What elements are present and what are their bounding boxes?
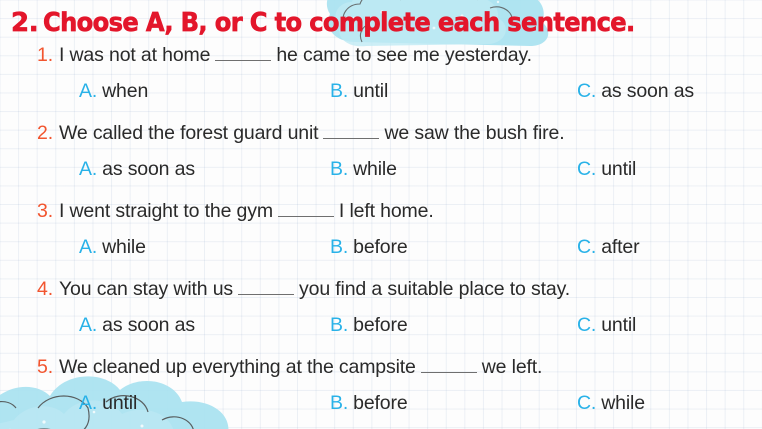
option-letter: A. <box>79 236 97 259</box>
option-value: as soon as <box>102 314 195 337</box>
question-text-after: he came to see me yesterday. <box>276 44 532 67</box>
option-row: A. as soon as B. while C. until <box>0 158 762 186</box>
question-item: 5. We cleaned up everything at the camps… <box>0 356 762 429</box>
option-value: when <box>102 80 148 103</box>
question-item: 1. I was not at home he came to see me y… <box>0 44 762 122</box>
question-text-before: I was not at home <box>59 44 210 67</box>
option-a[interactable]: A. when <box>79 80 148 103</box>
option-letter: B. <box>330 236 348 259</box>
option-letter: B. <box>330 158 348 181</box>
worksheet-slide: 2. Choose A, B, or C to complete each se… <box>0 0 762 429</box>
option-letter: C. <box>577 158 596 181</box>
exercise-title: 2. Choose A, B, or C to complete each se… <box>11 8 679 38</box>
option-value: while <box>353 158 397 181</box>
option-a[interactable]: A. until <box>79 392 137 415</box>
answer-blank[interactable] <box>421 359 477 373</box>
question-sentence: 2. We called the forest guard unit we sa… <box>37 122 564 145</box>
question-number: 4. <box>37 278 53 301</box>
option-value: until <box>601 314 636 337</box>
option-row: A. as soon as B. before C. until <box>0 314 762 342</box>
option-row: A. until B. before C. while <box>0 392 762 420</box>
question-text-after: we saw the bush fire. <box>384 122 564 145</box>
option-letter: C. <box>577 236 596 259</box>
question-sentence: 3. I went straight to the gym I left hom… <box>37 200 434 223</box>
option-value: while <box>102 236 146 259</box>
exercise-title-text: Choose A, B, or C to complete each sente… <box>43 8 635 38</box>
question-item: 3. I went straight to the gym I left hom… <box>0 200 762 278</box>
question-text-before: I went straight to the gym <box>59 200 273 223</box>
option-c[interactable]: C. while <box>577 392 645 415</box>
option-value: until <box>353 80 388 103</box>
question-list: 1. I was not at home he came to see me y… <box>0 44 762 429</box>
option-b[interactable]: B. before <box>330 314 408 337</box>
answer-blank[interactable] <box>323 125 379 139</box>
option-value: as soon as <box>102 158 195 181</box>
option-value: before <box>353 392 407 415</box>
question-text-before: We called the forest guard unit <box>59 122 318 145</box>
question-item: 2. We called the forest guard unit we sa… <box>0 122 762 200</box>
question-item: 4. You can stay with us you find a suita… <box>0 278 762 356</box>
option-b[interactable]: B. before <box>330 236 408 259</box>
question-text-before: You can stay with us <box>59 278 233 301</box>
option-value: before <box>353 314 407 337</box>
option-letter: B. <box>330 80 348 103</box>
option-row: A. when B. until C. as soon as <box>0 80 762 108</box>
option-value: until <box>102 392 137 415</box>
option-letter: B. <box>330 392 348 415</box>
question-text-before: We cleaned up everything at the campsite <box>59 356 416 379</box>
option-letter: B. <box>330 314 348 337</box>
option-b[interactable]: B. while <box>330 158 397 181</box>
option-letter: C. <box>577 80 596 103</box>
question-number: 3. <box>37 200 53 223</box>
option-b[interactable]: B. until <box>330 80 388 103</box>
option-c[interactable]: C. until <box>577 314 636 337</box>
option-c[interactable]: C. after <box>577 236 639 259</box>
option-letter: A. <box>79 158 97 181</box>
answer-blank[interactable] <box>278 203 334 217</box>
option-b[interactable]: B. before <box>330 392 408 415</box>
question-sentence: 4. You can stay with us you find a suita… <box>37 278 570 301</box>
answer-blank[interactable] <box>238 281 294 295</box>
question-sentence: 5. We cleaned up everything at the camps… <box>37 356 542 379</box>
option-letter: A. <box>79 80 97 103</box>
question-number: 1. <box>37 44 53 67</box>
question-text-after: you find a suitable place to stay. <box>299 278 570 301</box>
question-text-after: we left. <box>482 356 543 379</box>
option-value: while <box>601 392 645 415</box>
option-value: as soon as <box>601 80 694 103</box>
option-a[interactable]: A. as soon as <box>79 158 195 181</box>
option-c[interactable]: C. until <box>577 158 636 181</box>
question-number: 2. <box>37 122 53 145</box>
question-sentence: 1. I was not at home he came to see me y… <box>37 44 532 67</box>
option-value: before <box>353 236 407 259</box>
answer-blank[interactable] <box>215 47 271 61</box>
option-a[interactable]: A. while <box>79 236 146 259</box>
option-row: A. while B. before C. after <box>0 236 762 264</box>
option-letter: A. <box>79 392 97 415</box>
option-letter: A. <box>79 314 97 337</box>
option-letter: C. <box>577 392 596 415</box>
option-value: after <box>601 236 639 259</box>
option-c[interactable]: C. as soon as <box>577 80 694 103</box>
exercise-number: 2. <box>11 8 38 38</box>
question-text-after: I left home. <box>339 200 434 223</box>
question-number: 5. <box>37 356 53 379</box>
option-letter: C. <box>577 314 596 337</box>
option-a[interactable]: A. as soon as <box>79 314 195 337</box>
option-value: until <box>601 158 636 181</box>
